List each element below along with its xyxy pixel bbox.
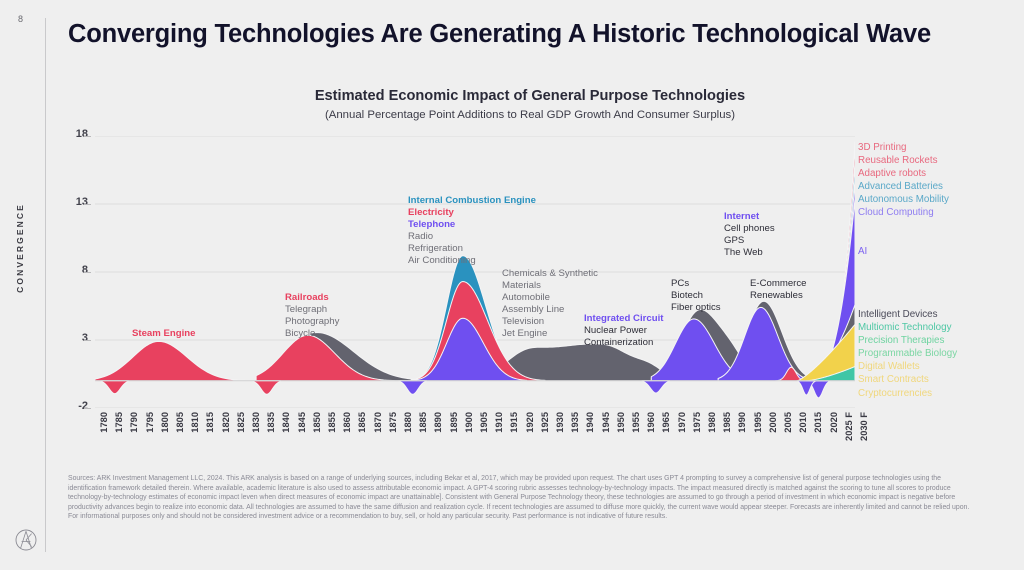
x-axis-tick-label: 1875 bbox=[388, 412, 398, 433]
x-axis-tick-label: 1940 bbox=[585, 412, 595, 433]
x-axis-tick-label: 1795 bbox=[145, 412, 155, 433]
annotation-line: Bicycle bbox=[285, 328, 339, 340]
x-axis-tick-label: 1930 bbox=[555, 412, 565, 433]
chart-plot-area bbox=[95, 136, 855, 408]
y-axis-tick-label: 18 bbox=[58, 128, 88, 140]
slide-root: 8 CONVERGENCE Converging Technologies Ar… bbox=[0, 0, 1024, 570]
x-axis-tick-label: 2000 bbox=[768, 412, 778, 433]
x-axis-tick-label: 1885 bbox=[418, 412, 428, 433]
x-axis-tick-label: 1935 bbox=[570, 412, 580, 433]
x-axis-tick-label: 1915 bbox=[509, 412, 519, 433]
y-axis-tick-mark bbox=[84, 272, 91, 273]
x-axis-tick-label: 1895 bbox=[449, 412, 459, 433]
series-area-integrated-circuit-negative bbox=[642, 381, 669, 393]
legend-item: Multiomic Technology bbox=[858, 321, 957, 334]
annotation-line: Air Conditioning bbox=[408, 255, 536, 267]
x-axis-tick-label: 1845 bbox=[297, 412, 307, 433]
annotation-steam-engine: Steam Engine bbox=[132, 328, 195, 340]
legend-top-group: 3D PrintingReusable RocketsAdaptive robo… bbox=[858, 141, 949, 220]
x-axis-tick-label: 1960 bbox=[646, 412, 656, 433]
annotation-integrated-circuit: Integrated CircuitNuclear PowerContainer… bbox=[584, 313, 663, 349]
x-axis-tick-label: 1980 bbox=[707, 412, 717, 433]
x-axis-tick-label: 1860 bbox=[342, 412, 352, 433]
rail-divider bbox=[45, 18, 46, 552]
legend-item: 3D Printing bbox=[858, 141, 949, 154]
legend-bottom-group: Intelligent DevicesMultiomic TechnologyP… bbox=[858, 308, 957, 400]
x-axis-tick-label: 1805 bbox=[175, 412, 185, 433]
x-axis-tick-label: 1970 bbox=[677, 412, 687, 433]
annotation-line: Nuclear Power bbox=[584, 325, 663, 337]
x-axis: 1780178517901795180018051810181518201825… bbox=[95, 412, 855, 464]
footnote: Sources: ARK Investment Management LLC, … bbox=[68, 474, 976, 522]
x-axis-tick-label: 1975 bbox=[692, 412, 702, 433]
annotation-ecommerce: E-CommerceRenewables bbox=[750, 278, 807, 302]
legend-item: Cryptocurrencies bbox=[858, 387, 957, 400]
x-axis-tick-label: 2025 F bbox=[844, 412, 854, 441]
left-rail: 8 CONVERGENCE bbox=[0, 0, 46, 570]
legend-item: Reusable Rockets bbox=[858, 154, 949, 167]
annotation-line: Fiber optics bbox=[671, 302, 721, 314]
legend-ai-group: AI bbox=[858, 245, 867, 258]
x-axis-tick-label: 2015 bbox=[813, 412, 823, 433]
x-axis-tick-label: 1950 bbox=[616, 412, 626, 433]
x-axis-tick-label: 1835 bbox=[266, 412, 276, 433]
annotation-line: Internet bbox=[724, 211, 775, 223]
annotation-line: Integrated Circuit bbox=[584, 313, 663, 325]
y-axis-tick-mark bbox=[84, 136, 91, 137]
x-axis-tick-label: 1830 bbox=[251, 412, 261, 433]
series-area-steam-engine bbox=[95, 341, 271, 380]
x-axis-tick-label: 1920 bbox=[525, 412, 535, 433]
legend-item: Programmable Biology bbox=[858, 347, 957, 360]
annotation-line: Photography bbox=[285, 316, 339, 328]
y-axis-tick-label: -2 bbox=[58, 400, 88, 412]
annotation-internet: InternetCell phonesGPSThe Web bbox=[724, 211, 775, 259]
x-axis-tick-label: 1945 bbox=[601, 412, 611, 433]
legend-item: Advanced Batteries bbox=[858, 180, 949, 193]
x-axis-tick-label: 2010 bbox=[798, 412, 808, 433]
series-area-steam-engine-negative bbox=[101, 381, 128, 394]
y-axis-tick-label: 3 bbox=[58, 332, 88, 344]
page-title: Converging Technologies Are Generating A… bbox=[68, 20, 931, 49]
x-axis-tick-label: 1810 bbox=[190, 412, 200, 433]
x-axis-tick-label: 1855 bbox=[327, 412, 337, 433]
x-axis-tick-label: 2020 bbox=[829, 412, 839, 433]
y-axis-tick-label: 13 bbox=[58, 196, 88, 208]
legend-item: Intelligent Devices bbox=[858, 308, 957, 321]
x-axis-tick-label: 1790 bbox=[129, 412, 139, 433]
page-number: 8 bbox=[18, 14, 24, 24]
annotation-line: Telephone bbox=[408, 219, 536, 231]
x-axis-tick-label: 1780 bbox=[99, 412, 109, 433]
x-axis-tick-label: 1890 bbox=[433, 412, 443, 433]
annotation-line: GPS bbox=[724, 235, 775, 247]
x-axis-tick-label: 2005 bbox=[783, 412, 793, 433]
annotation-line: Chemicals & Synthetic bbox=[502, 268, 598, 280]
x-axis-tick-label: 1850 bbox=[312, 412, 322, 433]
annotation-line: Containerization bbox=[584, 337, 663, 349]
y-axis-tick-mark bbox=[84, 204, 91, 205]
legend-item: Precision Therapies bbox=[858, 334, 957, 347]
x-axis-tick-label: 1820 bbox=[221, 412, 231, 433]
annotation-line: Materials bbox=[502, 280, 598, 292]
series-area-telephone-negative bbox=[399, 381, 426, 395]
x-axis-tick-label: 1955 bbox=[631, 412, 641, 433]
annotation-line: PCs bbox=[671, 278, 721, 290]
x-axis-tick-label: 1900 bbox=[464, 412, 474, 433]
area-chart-svg bbox=[95, 136, 855, 408]
annotation-line: Electricity bbox=[408, 207, 536, 219]
legend-item: Digital Wallets bbox=[858, 360, 957, 373]
x-axis-tick-label: 1995 bbox=[753, 412, 763, 433]
x-axis-tick-label: 1925 bbox=[540, 412, 550, 433]
legend-item: Autonomous Mobility bbox=[858, 193, 949, 206]
annotation-railroads: RailroadsTelegraphPhotographyBicycle bbox=[285, 292, 339, 340]
chart-subtitle: (Annual Percentage Point Additions to Re… bbox=[60, 109, 1000, 121]
annotation-line: Telegraph bbox=[285, 304, 339, 316]
x-axis-tick-label: 1825 bbox=[236, 412, 246, 433]
section-label: CONVERGENCE bbox=[15, 198, 25, 298]
legend-item: Adaptive robots bbox=[858, 167, 949, 180]
x-axis-tick-label: 2030 F bbox=[859, 412, 869, 441]
x-axis-tick-label: 1870 bbox=[373, 412, 383, 433]
x-axis-tick-label: 1990 bbox=[737, 412, 747, 433]
annotation-line: Automobile bbox=[502, 292, 598, 304]
annotation-line: Internal Combustion Engine bbox=[408, 195, 536, 207]
legend-item: Cloud Computing bbox=[858, 206, 949, 219]
x-axis-tick-label: 1880 bbox=[403, 412, 413, 433]
annotation-second-wave: Internal Combustion EngineElectricityTel… bbox=[408, 195, 536, 268]
ark-logo-icon bbox=[15, 529, 37, 551]
annotation-pcs: PCsBiotechFiber optics bbox=[671, 278, 721, 314]
x-axis-tick-label: 1800 bbox=[160, 412, 170, 433]
series-areas bbox=[95, 141, 855, 397]
x-axis-tick-label: 1865 bbox=[357, 412, 367, 433]
legend-item: AI bbox=[858, 245, 867, 258]
x-axis-tick-label: 1785 bbox=[114, 412, 124, 433]
annotation-line: Cell phones bbox=[724, 223, 775, 235]
annotation-line: The Web bbox=[724, 247, 775, 259]
annotation-line: Biotech bbox=[671, 290, 721, 302]
y-axis-tick-mark bbox=[84, 340, 91, 341]
legend-item: Smart Contracts bbox=[858, 373, 957, 386]
x-axis-tick-label: 1910 bbox=[494, 412, 504, 433]
annotation-line: Refrigeration bbox=[408, 243, 536, 255]
annotation-line: Renewables bbox=[750, 290, 807, 302]
annotation-line: Railroads bbox=[285, 292, 339, 304]
series-area-railroads-negative bbox=[253, 381, 280, 395]
annotation-line: E-Commerce bbox=[750, 278, 807, 290]
annotation-line: Steam Engine bbox=[132, 328, 195, 340]
annotation-line: Radio bbox=[408, 231, 536, 243]
x-axis-tick-label: 1815 bbox=[205, 412, 215, 433]
x-axis-tick-label: 1840 bbox=[281, 412, 291, 433]
x-axis-tick-label: 1985 bbox=[722, 412, 732, 433]
chart-title: Estimated Economic Impact of General Pur… bbox=[60, 88, 1000, 104]
y-axis-tick-label: 8 bbox=[58, 264, 88, 276]
y-axis-tick-mark bbox=[84, 408, 91, 409]
x-axis-tick-label: 1965 bbox=[661, 412, 671, 433]
x-axis-tick-label: 1905 bbox=[479, 412, 489, 433]
y-axis: -2381318 bbox=[50, 136, 88, 408]
